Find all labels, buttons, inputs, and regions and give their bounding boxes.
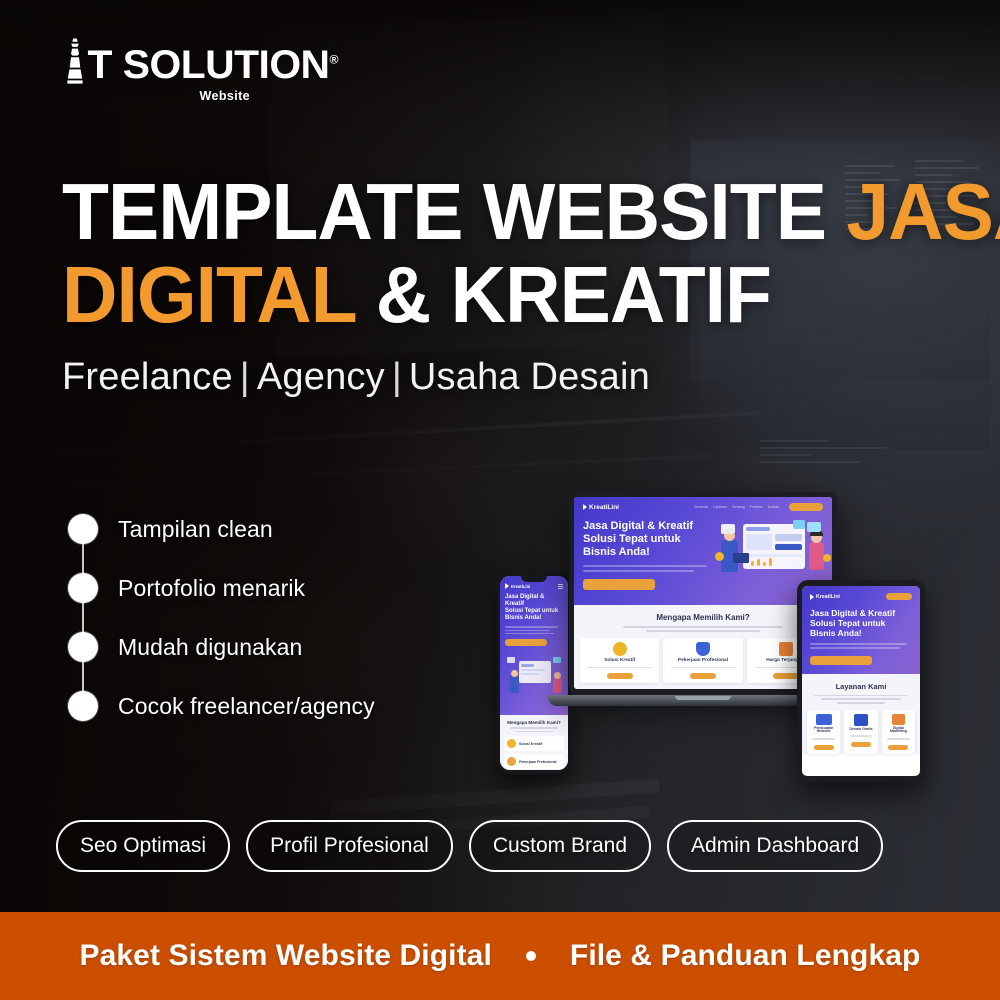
nav-link-3[interactable]: Portfolio	[750, 505, 763, 509]
tablet-card-button-0[interactable]	[814, 745, 834, 750]
design-icon	[854, 714, 868, 726]
feature-label-1: Portofolio menarik	[118, 575, 305, 602]
laptop-card-title-1: Pekerjaan Profesional	[678, 658, 728, 663]
phone-screen: KreatiLini Jasa Digital & Kreatif Solusi…	[500, 576, 568, 770]
headline-subtitle: Freelance|Agency|Usaha Desain	[62, 356, 942, 399]
brand-logo: T SOLUTION® Website	[64, 38, 336, 103]
tablet-screen: KreatiLini Jasa Digital & Kreatif Solusi…	[802, 586, 920, 776]
tablet-frame: KreatiLini Jasa Digital & Kreatif Solusi…	[797, 580, 925, 782]
nav-link-0[interactable]: Beranda	[694, 505, 708, 509]
bullet-dot-icon	[68, 514, 98, 544]
registered-mark: ®	[330, 53, 339, 67]
pill-custom-brand[interactable]: Custom Brand	[469, 820, 651, 872]
headline-white-2: & KREATIF	[376, 250, 771, 339]
phone-site-name: KreatiLini	[511, 584, 530, 589]
tablet-hero-title: Jasa Digital & Kreatif Solusi Tepat untu…	[810, 608, 912, 638]
tablet-site-logo: KreatiLini	[810, 594, 840, 600]
tablet-cards: Pembuatan Website Desain Grafis	[802, 710, 920, 754]
brand-name: T SOLUTION	[88, 43, 330, 87]
phone-card-0[interactable]: Solusi Kreatif	[504, 736, 564, 751]
subtitle-item-0: Freelance	[62, 356, 233, 398]
phone-menu-icon[interactable]	[558, 584, 563, 589]
laptop-nav: KreatiLini Beranda Layanan Tentang Portf…	[583, 503, 823, 511]
phone-frame: KreatiLini Jasa Digital & Kreatif Solusi…	[497, 572, 571, 774]
phone-card-title-1: Pekerjaan Profesional	[519, 760, 557, 764]
tablet-hero-paragraph	[810, 643, 912, 649]
brand-subtitle: Website	[64, 89, 336, 103]
feature-label-2: Mudah digunakan	[118, 634, 302, 661]
phone-card-1[interactable]: Pekerjaan Profesional	[504, 754, 564, 769]
laptop-card-1[interactable]: Pekerjaan Profesional	[663, 638, 742, 684]
lightbulb-icon	[507, 739, 516, 748]
laptop-section-title: Mengapa Memilih Kami?	[574, 613, 832, 622]
subtitle-sep-2: |	[385, 356, 409, 398]
footer-left-text: Paket Sistem Website Digital	[80, 939, 492, 973]
headline-accent-1: JASA	[846, 167, 1000, 256]
tablet-card-2[interactable]: Digital Marketing	[882, 710, 915, 754]
feature-item-0: Tampilan clean	[68, 500, 498, 558]
footer-right-text: File & Panduan Lengkap	[570, 939, 921, 973]
laptop-site-logo: KreatiLini	[583, 504, 619, 511]
laptop-card-button-1[interactable]	[690, 673, 716, 679]
shield-check-icon	[696, 642, 710, 656]
tag-pill-row: Seo Optimasi Profil Profesional Custom B…	[56, 820, 956, 872]
laptop-site-name: KreatiLini	[589, 504, 619, 511]
footer-separator-dot-icon	[526, 951, 536, 961]
feature-label-0: Tampilan clean	[118, 516, 273, 543]
headline-block: TEMPLATE WEBSITE JASA DIGITAL & KREATIF …	[62, 174, 942, 399]
brand-wordmark: T SOLUTION®	[88, 47, 338, 84]
laptop-nav-links[interactable]: Beranda Layanan Tentang Portfolio Kontak	[694, 505, 779, 509]
laptop-hero-title: Jasa Digital & Kreatif Solusi Tepat untu…	[583, 520, 715, 559]
tablet-mockup: KreatiLini Jasa Digital & Kreatif Solusi…	[797, 580, 925, 782]
chess-rook-icon	[64, 38, 86, 84]
feature-label-3: Cocok freelancer/agency	[118, 693, 375, 720]
laptop-card-button-2[interactable]	[773, 673, 799, 679]
phone-hero-paragraph	[505, 626, 563, 634]
laptop-hero: KreatiLini Beranda Layanan Tentang Portf…	[574, 497, 832, 605]
nav-link-2[interactable]: Tentang	[732, 505, 745, 509]
laptop-screen: KreatiLini Beranda Layanan Tentang Portf…	[574, 497, 832, 689]
pill-profil-profesional[interactable]: Profil Profesional	[246, 820, 453, 872]
headline-accent-2: DIGITAL	[62, 250, 355, 339]
phone-notch	[521, 576, 547, 582]
tablet-hero: KreatiLini Jasa Digital & Kreatif Solusi…	[802, 586, 920, 674]
device-mockup-cluster: KreatiLini Jasa Digital & Kreatif Solusi…	[497, 484, 947, 774]
monitor-icon	[816, 714, 832, 725]
feature-item-3: Cocok freelancer/agency	[68, 677, 498, 735]
tablet-card-button-2[interactable]	[888, 745, 908, 750]
laptop-card-0[interactable]: Solusi Kreatif	[580, 638, 659, 684]
laptop-trackpad-notch	[675, 696, 731, 700]
tablet-card-title-1: Desain Grafis	[849, 728, 872, 732]
feature-item-2: Mudah digunakan	[68, 618, 498, 676]
tablet-site-name: KreatiLini	[816, 594, 840, 600]
flag-icon	[810, 594, 814, 600]
nav-link-4[interactable]: Kontak	[768, 505, 779, 509]
phone-site-logo: KreatiLini	[505, 583, 530, 589]
tablet-section-title: Layanan Kami	[802, 682, 920, 691]
pill-seo-optimasi[interactable]: Seo Optimasi	[56, 820, 230, 872]
footer-bar: Paket Sistem Website Digital File & Pand…	[0, 912, 1000, 1000]
tablet-hero-cta[interactable]	[810, 656, 872, 665]
phone-hero-title: Jasa Digital & Kreatif Solusi Tepat untu…	[505, 594, 563, 622]
subtitle-sep-1: |	[233, 356, 257, 398]
pill-admin-dashboard[interactable]: Admin Dashboard	[667, 820, 883, 872]
tablet-card-0[interactable]: Pembuatan Website	[807, 710, 840, 754]
laptop-cards: Solusi Kreatif Pekerjaan Profesional	[574, 638, 832, 684]
lightbulb-icon	[613, 642, 627, 656]
phone-mockup: KreatiLini Jasa Digital & Kreatif Solusi…	[497, 572, 571, 774]
laptop-nav-cta[interactable]	[789, 503, 823, 511]
laptop-hero-cta[interactable]	[583, 579, 655, 590]
laptop-card-title-0: Solusi Kreatif	[604, 658, 635, 663]
feature-item-1: Portofolio menarik	[68, 559, 498, 617]
feature-list: Tampilan clean Portofolio menarik Mudah …	[68, 500, 498, 736]
headline-line-1: TEMPLATE WEBSITE JASA	[62, 174, 907, 251]
tablet-card-button-1[interactable]	[851, 742, 871, 747]
headline-white-1: TEMPLATE WEBSITE	[62, 167, 826, 256]
shield-check-icon	[507, 757, 516, 766]
phone-body: Mengapa Memilih Kami? Solusi Kreatif Pek…	[500, 715, 568, 770]
tablet-card-title-2: Digital Marketing	[885, 727, 912, 735]
tablet-card-title-0: Pembuatan Website	[810, 727, 837, 735]
laptop-body: Mengapa Memilih Kami? Solusi Kreatif Pek	[574, 605, 832, 689]
bullet-dot-icon	[68, 573, 98, 603]
flag-icon	[583, 504, 587, 510]
bullet-dot-icon	[68, 632, 98, 662]
cart-icon	[892, 714, 905, 725]
phone-nav: KreatiLini	[505, 583, 563, 594]
subtitle-item-2: Usaha Desain	[409, 356, 650, 398]
flag-icon	[505, 583, 509, 589]
shopping-cart-icon	[779, 642, 793, 656]
tablet-nav-cta[interactable]	[886, 593, 912, 600]
tablet-body: Layanan Kami Pembuatan Website	[802, 674, 920, 754]
nav-link-1[interactable]: Layanan	[713, 505, 727, 509]
phone-section-title: Mengapa Memilih Kami?	[504, 720, 564, 725]
phone-hero-cta[interactable]	[505, 639, 547, 646]
subtitle-item-1: Agency	[257, 356, 385, 398]
headline-line-2: DIGITAL & KREATIF	[62, 257, 907, 334]
laptop-hero-paragraph	[583, 565, 715, 572]
laptop-card-button-0[interactable]	[607, 673, 633, 679]
tablet-nav: KreatiLini	[810, 593, 912, 608]
bullet-dot-icon	[68, 691, 98, 721]
phone-card-title-0: Solusi Kreatif	[519, 742, 542, 746]
tablet-card-1[interactable]: Desain Grafis	[844, 710, 877, 754]
